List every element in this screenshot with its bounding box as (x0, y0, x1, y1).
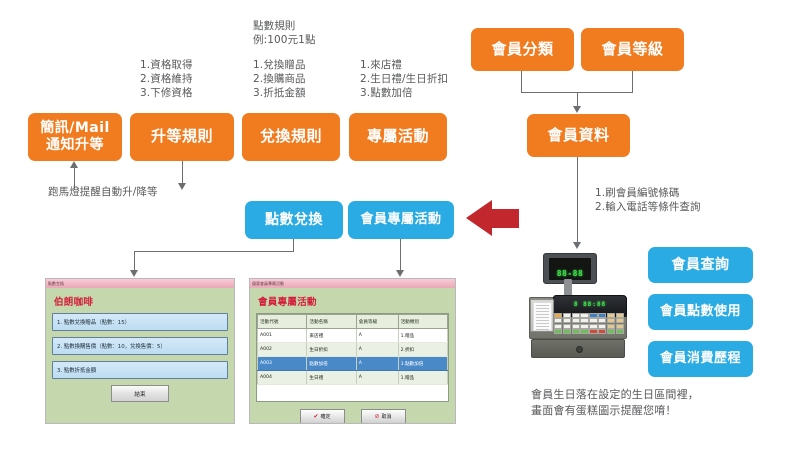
box-member-category-label: 會員分類 (491, 41, 553, 59)
cell-name: 點數加倍 (307, 357, 356, 371)
points-redeem-window[interactable]: 點數兌換 伯朗咖啡 1. 點數兌換贈品（點數：15） 2. 點數換購售價（點數：… (45, 278, 235, 424)
box-redeem-rule[interactable]: 兌換規則 (242, 113, 340, 161)
table-header-row: 活動代號 活動名稱 會員等級 活動類別 (258, 315, 448, 329)
red-left-arrow (466, 200, 519, 237)
cell-code: A002 (258, 343, 307, 357)
event-window-heading: 會員專屬活動 (258, 294, 449, 308)
event-table-wrapper: 活動代號 活動名稱 會員等級 活動類別 A001 來店禮 A 1.贈品 (256, 313, 449, 402)
connector-redeem-down2 (134, 251, 135, 272)
box-redeem-rule-label: 兌換規則 (260, 128, 322, 146)
customer-display-value: 88-88 (549, 258, 591, 280)
arrowhead-sms-up (70, 161, 78, 168)
connector-redeem-left (134, 251, 294, 252)
box-member-exclusive-event[interactable]: 會員專屬活動 (348, 201, 454, 239)
table-row[interactable]: A002 生日折扣 A 2.折扣 (258, 343, 448, 357)
box-points-redeem-label: 點數兌換 (265, 212, 323, 229)
col-member-level: 會員等級 (356, 315, 398, 329)
cell-code: A003 (258, 357, 307, 371)
cancel-button-label: 取消 (382, 413, 392, 420)
cell-code: A001 (258, 329, 307, 343)
box-member-points-use[interactable]: 會員點數使用 (648, 294, 753, 330)
dialog-button-row: ✔ 確定 ⊘ 取消 (256, 409, 449, 424)
event-window-body: 會員專屬活動 活動代號 活動名稱 會員等級 活動類別 (250, 288, 455, 423)
table-row[interactable]: A004 生日禮 A 1.贈品 (258, 371, 448, 385)
box-member-data-label: 會員資料 (547, 127, 609, 145)
cancel-button[interactable]: ⊘ 取消 (361, 409, 406, 424)
keypad[interactable] (554, 313, 624, 334)
box-upgrade-rule[interactable]: 升等規則 (130, 113, 234, 161)
cell-code: A004 (258, 371, 307, 385)
member-event-window[interactable]: 優惠會員專屬活動 會員專屬活動 活動代號 活動名稱 會員等級 活動類別 (249, 278, 456, 424)
cell-name: 生日折扣 (307, 343, 356, 357)
red-arrow-shaft (492, 209, 519, 228)
box-member-level-label: 會員等級 (601, 41, 663, 59)
points-window-titlebar[interactable]: 點數兌換 (46, 279, 234, 288)
list-item[interactable]: 1. 點數兌換贈品（點數：15） (52, 313, 228, 331)
connector-level-down (632, 71, 633, 93)
table-row[interactable]: A001 來店禮 A 1.贈品 (258, 329, 448, 343)
check-icon: ✔ (313, 414, 318, 420)
connector-event-down (400, 239, 401, 272)
operator-display-value: 8 88:88 (562, 300, 618, 309)
cell-name: 生日禮 (307, 371, 356, 385)
ban-icon: ⊘ (374, 414, 379, 420)
arrowhead-event-window (396, 270, 404, 277)
box-member-query-label: 會員查詢 (672, 257, 730, 274)
table-row-selected[interactable]: A003 點數加倍 A 3.點數加倍 (258, 357, 448, 371)
cash-register: 日本語 88-88 8 88:88 (529, 251, 625, 357)
col-activity-type: 活動類別 (398, 315, 447, 329)
cell-type: 3.點數加倍 (398, 357, 447, 371)
box-member-level[interactable]: 會員等級 (581, 28, 684, 71)
box-member-data[interactable]: 會員資料 (527, 114, 630, 157)
cell-name: 來店禮 (307, 329, 356, 343)
cell-type: 1.贈品 (398, 371, 447, 385)
drawer-knob (576, 346, 583, 353)
points-window-title: 點數兌換 (48, 281, 64, 287)
box-sms-mail-notify-label: 簡訊/Mail 通知升等 (40, 120, 110, 153)
birthday-caption: 會員生日落在設定的生日區間裡， 畫面會有蛋糕圖示提醒您唷！ (531, 387, 781, 419)
box-exclusive-event[interactable]: 專屬活動 (349, 113, 447, 161)
arrowhead-register (573, 242, 581, 249)
cell-type: 1.贈品 (398, 329, 447, 343)
list-item[interactable]: 3. 點數折抵金額 (52, 361, 228, 379)
event-window-title: 優惠會員專屬活動 (252, 281, 284, 287)
confirm-button-label: 確定 (321, 413, 331, 420)
end-button[interactable]: 結束 (111, 385, 169, 402)
box-member-query[interactable]: 會員查詢 (648, 247, 753, 283)
box-exclusive-event-label: 專屬活動 (367, 128, 429, 146)
col-activity-code: 活動代號 (258, 315, 307, 329)
box-points-redeem[interactable]: 點數兌換 (245, 201, 343, 239)
points-window-heading: 伯朗咖啡 (54, 294, 228, 308)
box-sms-mail-notify[interactable]: 簡訊/Mail 通知升等 (28, 113, 122, 161)
cell-level: A (356, 343, 398, 357)
box-member-spend-history[interactable]: 會員消費歷程 (648, 341, 753, 377)
receipt-printer (530, 299, 554, 332)
cell-level: A (356, 329, 398, 343)
box-member-exclusive-event-label: 會員專屬活動 (360, 212, 441, 227)
connector-category-down (521, 71, 522, 93)
event-table[interactable]: 活動代號 活動名稱 會員等級 活動類別 A001 來店禮 A 1.贈品 (257, 314, 448, 385)
cell-level: A (356, 371, 398, 385)
points-window-body: 伯朗咖啡 1. 點數兌換贈品（點數：15） 2. 點數換購售價（點數：10，兌換… (46, 288, 234, 423)
cell-level: A (356, 357, 398, 371)
arrowhead-member-data (573, 106, 581, 113)
note-upgrade-rules: 1.資格取得 2.資格維持 3.下修資格 (140, 58, 250, 101)
col-activity-name: 活動名稱 (307, 315, 356, 329)
table-empty-space (257, 385, 448, 401)
note-marquee: 跑馬燈提醒自動升/降等 (48, 185, 248, 199)
red-arrow-head (466, 200, 492, 236)
box-member-spend-history-label: 會員消費歷程 (660, 351, 741, 366)
cash-drawer[interactable] (531, 339, 625, 358)
receipt-paper (533, 302, 552, 331)
list-item[interactable]: 2. 點數換購售價（點數：10，兌換售價：5） (52, 337, 228, 355)
connector-data-to-register (577, 157, 578, 244)
arrowhead-points-window (130, 270, 138, 277)
note-redeem-rules: 1.兌換贈品 2.換購商品 3.折抵金額 (253, 58, 363, 101)
note-query-methods: 1.刷會員編號條碼 2.輸入電話等條件查詢 (595, 186, 770, 214)
box-upgrade-rule-label: 升等規則 (151, 128, 213, 146)
cell-type: 2.折扣 (398, 343, 447, 357)
note-points-rule-title: 點數規則 例:100元1點 (253, 19, 363, 47)
box-member-category[interactable]: 會員分類 (471, 28, 574, 71)
connector-upgrade-down (182, 161, 183, 185)
event-window-titlebar[interactable]: 優惠會員專屬活動 (250, 279, 455, 288)
confirm-button[interactable]: ✔ 確定 (300, 409, 345, 424)
box-member-points-use-label: 會員點數使用 (660, 304, 741, 319)
